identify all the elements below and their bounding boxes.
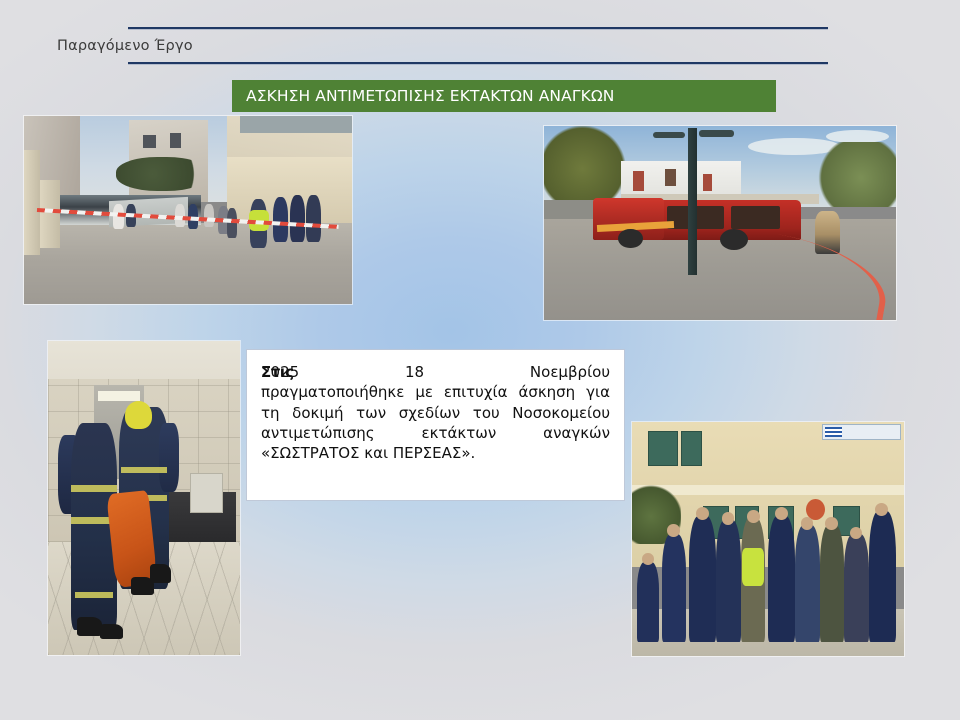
description-line-2: πραγματοποιήθηκε με επιτυχία άσκηση για [261, 382, 610, 402]
photo-street-triage [24, 116, 352, 304]
photo-truck-content [544, 126, 896, 320]
description-line-1-base: 2025 18 Νοεμβρίου [261, 362, 610, 382]
description-line-1: 2025 18 Νοεμβρίου Στις [261, 362, 610, 382]
page-title: Παραγόμενο Έργο [57, 38, 193, 54]
description-text: 2025 18 Νοεμβρίου Στις πραγματοποιήθηκε … [247, 350, 624, 463]
photo-street-content [24, 116, 352, 304]
description-line-4: αντιμετώπισης εκτάκτων αναγκών [261, 423, 610, 443]
section-banner: ΑΣΚΗΣΗ ΑΝΤΙΜΕΤΩΠΙΣΗΣ ΕΚΤΑΚΤΩΝ ΑΝΑΓΚΩΝ [232, 80, 776, 112]
description-line-5: «ΣΩΣΤΡΑΤΟΣ και ΠΕΡΣΕΑΣ». [261, 443, 610, 463]
description-line-3: τη δοκιμή των σχεδίων του Νοσοκομείου [261, 403, 610, 423]
photo-group-shot [632, 422, 904, 656]
photo-fire-truck [544, 126, 896, 320]
photo-group-content [632, 422, 904, 656]
description-textbox: 2025 18 Νοεμβρίου Στις πραγματοποιήθηκε … [247, 350, 624, 500]
slide-canvas: Παραγόμενο Έργο ΑΣΚΗΣΗ ΑΝΤΙΜΕΤΩΠΙΣΗΣ ΕΚΤ… [0, 0, 960, 720]
photo-indoor-content [48, 341, 240, 655]
photo-indoor-firefighters [48, 341, 240, 655]
header-rule-top [128, 27, 828, 29]
description-line-1-overlay: Στις [261, 362, 294, 382]
section-banner-label: ΑΣΚΗΣΗ ΑΝΤΙΜΕΤΩΠΙΣΗΣ ΕΚΤΑΚΤΩΝ ΑΝΑΓΚΩΝ [232, 87, 614, 105]
description-body: πραγματοποιήθηκε με επιτυχία άσκηση για … [261, 382, 610, 463]
header-rule-bottom [128, 62, 828, 64]
